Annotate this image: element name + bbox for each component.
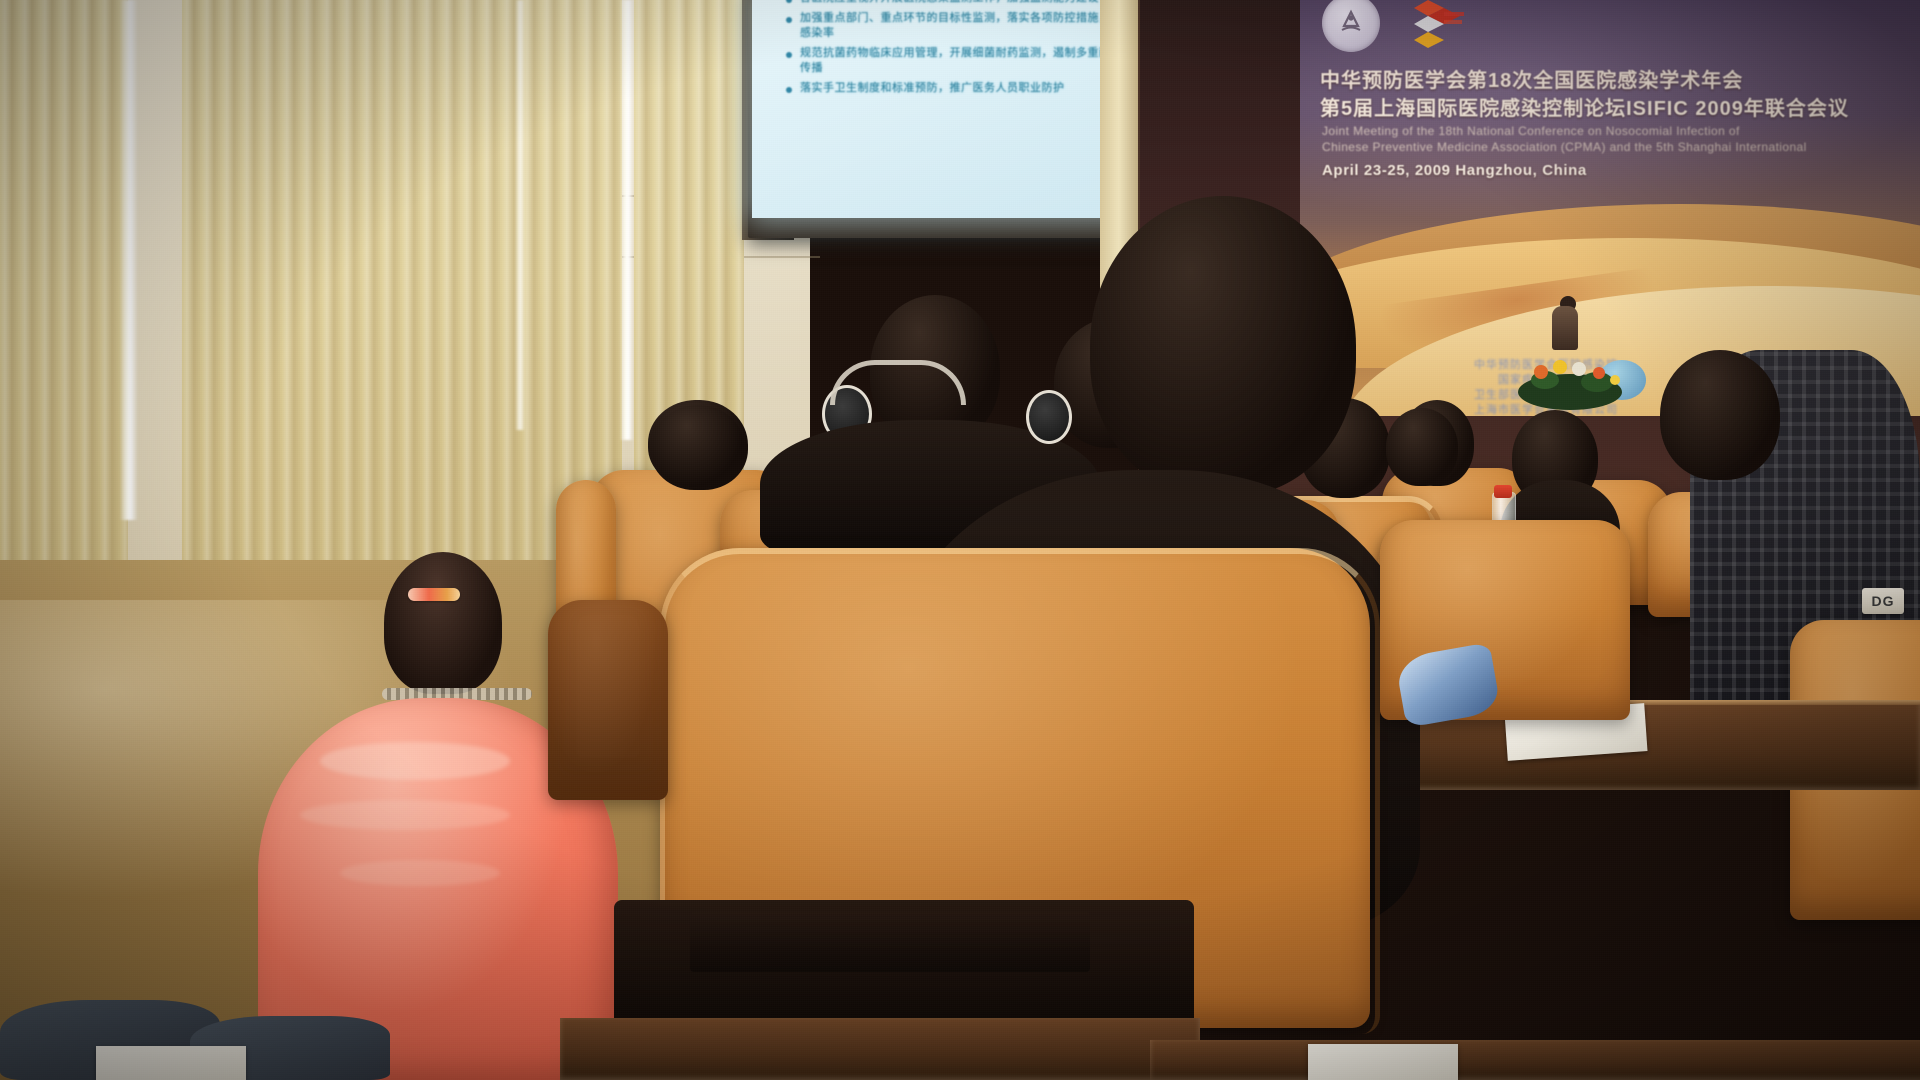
slide-bullet-item: 加强重点部门、重点环节的目标性监测，落实各项防控措施，降低感染率 [786, 10, 1139, 40]
papers-on-desk [1308, 1044, 1458, 1080]
hair-clip [408, 588, 460, 601]
banner-subtitle-en-line1: Joint Meeting of the 18th National Confe… [1322, 124, 1740, 138]
banner-date-location: April 23-25, 2009 Hangzhou, China [1322, 162, 1587, 179]
desk [1150, 1040, 1920, 1080]
foreground-head [1090, 196, 1356, 496]
slide-bullet-text: 规范抗菌药物临床应用管理，开展细菌耐药监测，遏制多重耐药菌传播 [800, 45, 1139, 75]
slide-bullet-text: 各医院应重视并开展医院感染监测工作，加强监测能力建设 [800, 0, 1099, 5]
water-bottle-cap [1494, 485, 1512, 498]
banner-subtitle-en-line2: Chinese Preventive Medicine Association … [1322, 140, 1807, 154]
bullet-point-icon [786, 0, 792, 3]
banner-title-cn-line2: 第5届上海国际医院感染控制论坛ISIFIC 2009年联合会议 [1320, 92, 1920, 121]
attendee-head [652, 405, 744, 487]
bullet-point-icon [786, 17, 792, 23]
headphone-earcup-icon [1026, 390, 1072, 444]
chair [548, 600, 668, 800]
slide-bullet-item: 规范抗菌药物临床应用管理，开展细菌耐药监测，遏制多重耐药菌传播 [786, 45, 1139, 75]
conference-hall-photo: 各医院应重视并开展医院感染监测工作，加强监测能力建设 加强重点部门、重点环节的目… [0, 0, 1920, 1080]
jacket-fold [300, 800, 510, 830]
window-light-slit [120, 0, 138, 520]
papers-foreground [96, 1046, 246, 1080]
slide-bullet-item: 落实手卫生制度和标准预防，推广医务人员职业防护 [786, 80, 1139, 95]
slide-bullet-text: 落实手卫生制度和标准预防，推广医务人员职业防护 [800, 80, 1065, 95]
projection-screen: 各医院应重视并开展医院感染监测工作，加强监测能力建设 加强重点部门、重点环节的目… [752, 0, 1147, 218]
banner-title-cn-line1: 中华预防医学会第18次全国医院感染学术年会 [1320, 64, 1920, 93]
seat-back-panel [690, 912, 1090, 972]
jacket-logo: DG [1862, 588, 1904, 614]
attendee-head [1386, 408, 1458, 486]
headphone-band-icon [830, 360, 966, 405]
desk [560, 1018, 1200, 1080]
photograph-scene: 各医院应重视并开展医院感染监测工作，加强监测能力建设 加强重点部门、重点环节的目… [0, 0, 1920, 1080]
stage-curtain-left [0, 0, 128, 640]
slide-bullet-text: 加强重点部门、重点环节的目标性监测，落实各项防控措施，降低感染率 [800, 10, 1139, 40]
isific-diamond-icon [1408, 0, 1464, 50]
slide-bullet-item: 各医院应重视并开展医院感染监测工作，加强监测能力建设 [786, 0, 1139, 5]
jacket-fold [320, 742, 510, 780]
jacket-fold [340, 860, 500, 886]
presentation-slide: 各医院应重视并开展医院感染监测工作，加强监测能力建设 加强重点部门、重点环节的目… [786, 0, 1139, 100]
flower-arrangement [1515, 350, 1625, 410]
window-light-slit [515, 0, 525, 430]
attendee-head [1660, 350, 1780, 480]
window-light-slit [620, 0, 634, 440]
bullet-point-icon [786, 52, 792, 58]
speaker-on-stage [1552, 306, 1578, 350]
bullet-point-icon [786, 87, 792, 93]
woman-hair [384, 552, 502, 694]
